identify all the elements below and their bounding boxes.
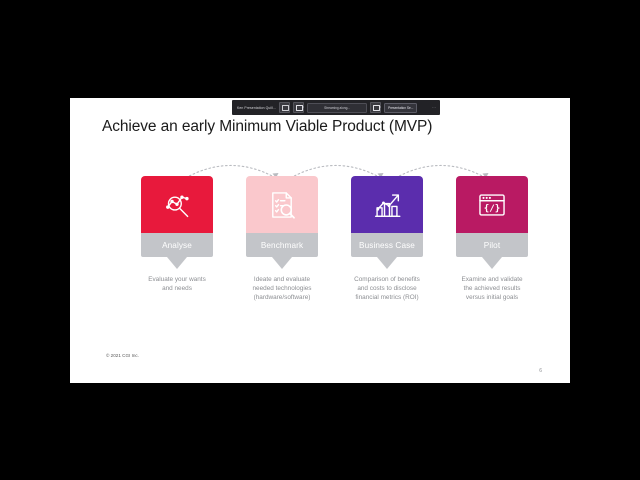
card-pointer-analyse [167, 257, 187, 269]
camera-icon[interactable] [370, 102, 381, 113]
streaming-status-badge[interactable]: Streaming along... [307, 103, 367, 113]
process-cards-row: Analyse Evaluate your wants and needs [70, 176, 570, 316]
card-label-pilot: Pilot [456, 233, 528, 257]
svg-text:{/}: {/} [484, 203, 501, 214]
card-caption-benchmark: Ideate and evaluate needed technologies … [227, 275, 337, 302]
browser-code-icon: {/} [475, 188, 509, 222]
card-icon-panel-benchmark [246, 176, 318, 233]
slide-page-number: 6 [539, 368, 542, 374]
card-pointer-benchmark [272, 257, 292, 269]
process-card-analyse[interactable]: Analyse Evaluate your wants and needs [122, 176, 232, 293]
video-player-stage: Achieve an early Minimum Viable Product … [0, 0, 640, 480]
card-label-business-case: Business Case [351, 233, 423, 257]
card-icon-panel-analyse [141, 176, 213, 233]
card-pointer-business-case [377, 257, 397, 269]
card-icon-panel-business-case [351, 176, 423, 233]
presentation-settings-button[interactable]: Presentation Se... [384, 103, 417, 113]
meeting-title: Ken Presentation Quill... [235, 106, 276, 110]
card-label-analyse: Analyse [141, 233, 213, 257]
magnifier-network-icon [160, 188, 194, 222]
process-card-pilot[interactable]: {/} Pilot Examine and validate the achie… [437, 176, 547, 302]
participants-icon[interactable] [293, 102, 304, 113]
page-title: Achieve an early Minimum Viable Product … [102, 118, 432, 136]
card-icon-panel-pilot: {/} [456, 176, 528, 233]
card-caption-pilot: Examine and validate the achieved result… [437, 275, 547, 302]
meeting-toolbar[interactable]: Ken Presentation Quill... Streaming alon… [232, 100, 440, 115]
copyright-notice: © 2021 CGI Inc. [106, 353, 139, 358]
bar-chart-growth-icon [370, 188, 404, 222]
card-pointer-pilot [482, 257, 502, 269]
process-card-benchmark[interactable]: Benchmark Ideate and evaluate needed tec… [227, 176, 337, 302]
card-caption-business-case: Comparison of benefits and costs to disc… [332, 275, 442, 302]
more-options-icon[interactable]: ⋯ [432, 105, 437, 110]
presentation-slide: Achieve an early Minimum Viable Product … [70, 98, 570, 383]
card-caption-analyse: Evaluate your wants and needs [122, 275, 232, 293]
card-label-benchmark: Benchmark [246, 233, 318, 257]
process-card-business-case[interactable]: Business Case Comparison of benefits and… [332, 176, 442, 302]
screen-share-icon[interactable] [279, 102, 290, 113]
document-checklist-magnifier-icon [265, 188, 299, 222]
